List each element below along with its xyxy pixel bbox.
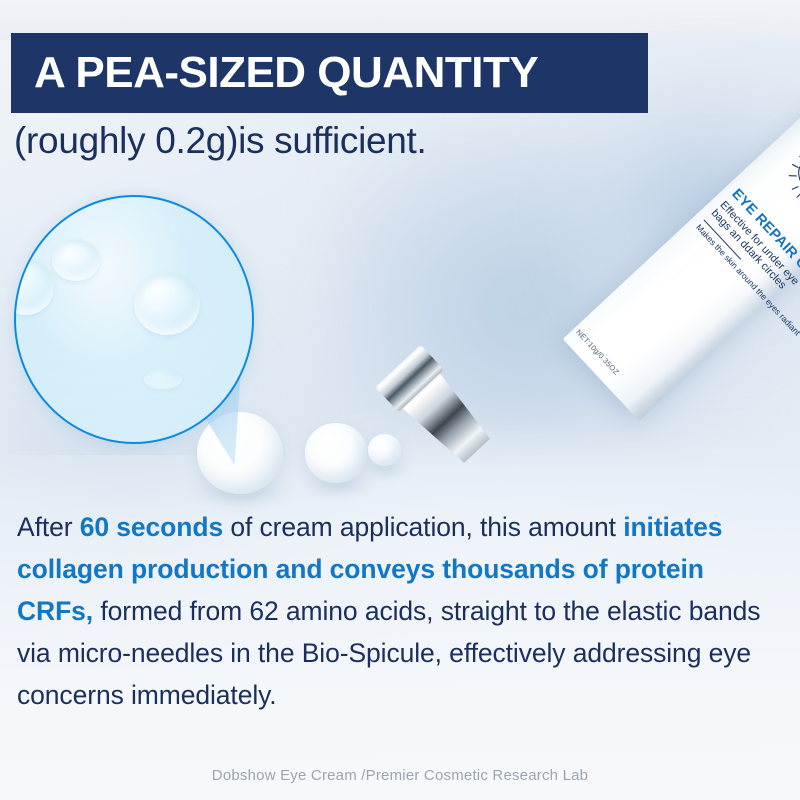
water-droplet [52, 239, 100, 281]
body-segment-3: of cream application, this amount [223, 512, 623, 542]
water-droplet [134, 273, 200, 335]
cream-blob-small [368, 434, 401, 466]
promo-image-canvas: DOBSHOW [0, 0, 800, 800]
body-accent-60-seconds: 60 seconds [80, 512, 223, 542]
body-segment-5: formed from 62 amino acids, straight to … [17, 596, 760, 710]
body-copy: After 60 seconds of cream application, t… [17, 506, 787, 716]
tube-body: DOBSHOW [563, 66, 800, 421]
footer-credit: Dobshow Eye Cream /Premier Cosmetic Rese… [0, 767, 800, 784]
water-droplet [144, 369, 182, 389]
headline-banner: A PEA-SIZED QUANTITY [11, 33, 648, 113]
body-segment-1: After [17, 512, 80, 542]
subheadline: (roughly 0.2g)is sufficient. [14, 120, 427, 162]
droplet-magnifier [14, 195, 254, 444]
page-title: A PEA-SIZED QUANTITY [11, 48, 538, 98]
cream-blob-medium [305, 423, 367, 483]
water-droplet [14, 259, 54, 315]
